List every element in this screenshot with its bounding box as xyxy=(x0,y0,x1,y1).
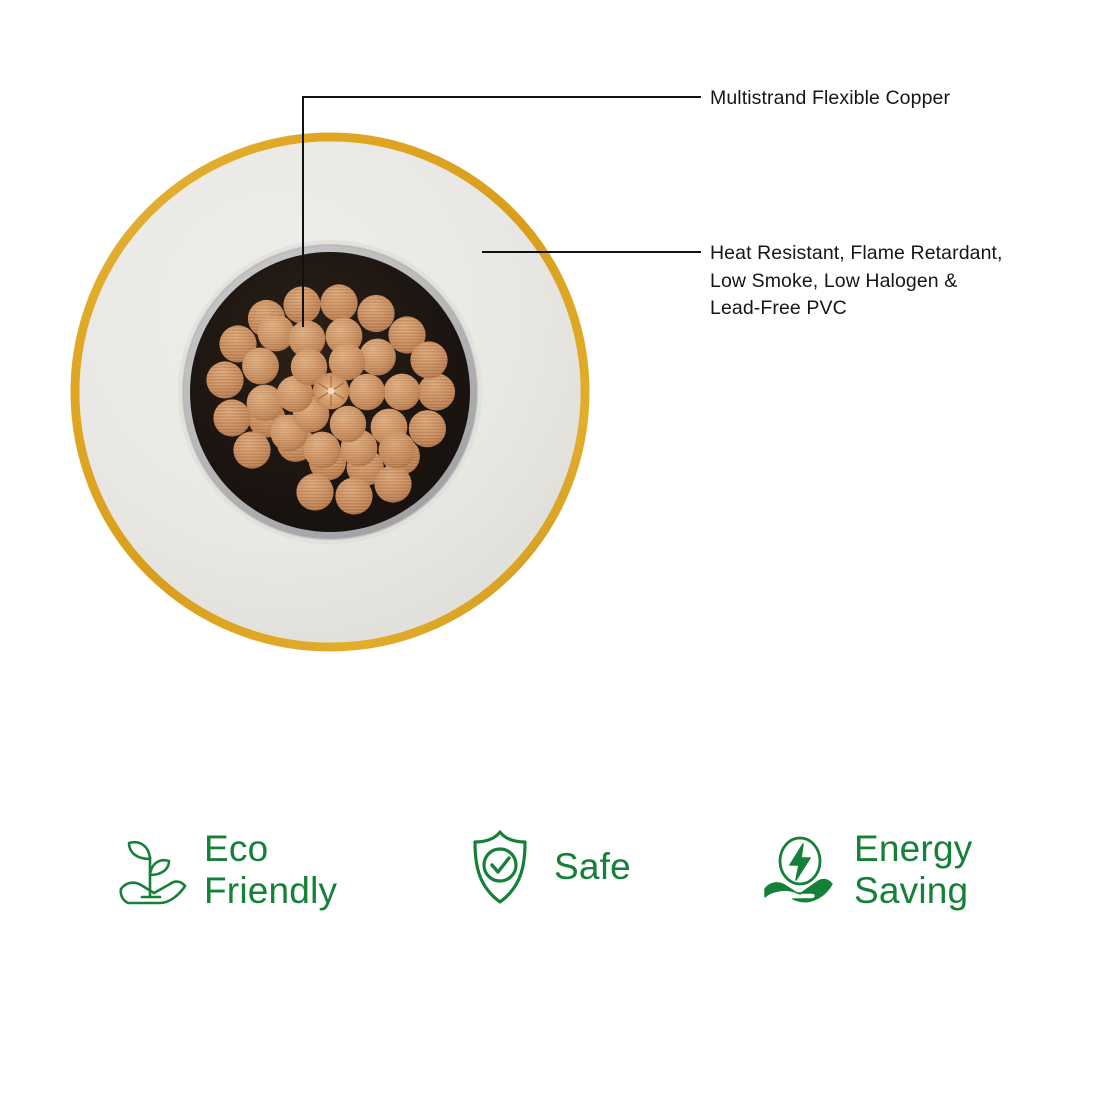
callout-label-pvc: Heat Resistant, Flame Retardant, Low Smo… xyxy=(710,240,1003,323)
badge-energy-saving-label: Energy Saving xyxy=(854,828,972,912)
badge-energy-saving: Energy Saving xyxy=(762,828,972,912)
hand-holding-bolt-icon xyxy=(762,831,836,909)
conductor-bundle xyxy=(190,252,470,532)
leader-line-copper-vertical xyxy=(302,96,304,327)
badge-eco-friendly: Eco Friendly xyxy=(116,828,337,912)
feature-badge-row: Eco Friendly Safe xyxy=(0,822,1100,942)
callout-label-multistrand-copper: Multistrand Flexible Copper xyxy=(710,85,950,113)
shield-check-icon xyxy=(468,828,532,906)
leader-line-copper-horizontal xyxy=(302,96,701,98)
cable-cross-section-diagram xyxy=(66,128,594,656)
badge-eco-friendly-label: Eco Friendly xyxy=(204,828,337,912)
leader-line-pvc-horizontal xyxy=(482,251,701,253)
cable-cross-section-svg xyxy=(66,128,594,656)
copper-strand-center xyxy=(313,373,349,409)
hand-holding-plant-icon xyxy=(116,831,190,909)
badge-safe: Safe xyxy=(468,828,631,906)
badge-safe-label: Safe xyxy=(554,846,631,888)
infographic-canvas: Multistrand Flexible Copper Heat Resista… xyxy=(0,0,1100,1100)
